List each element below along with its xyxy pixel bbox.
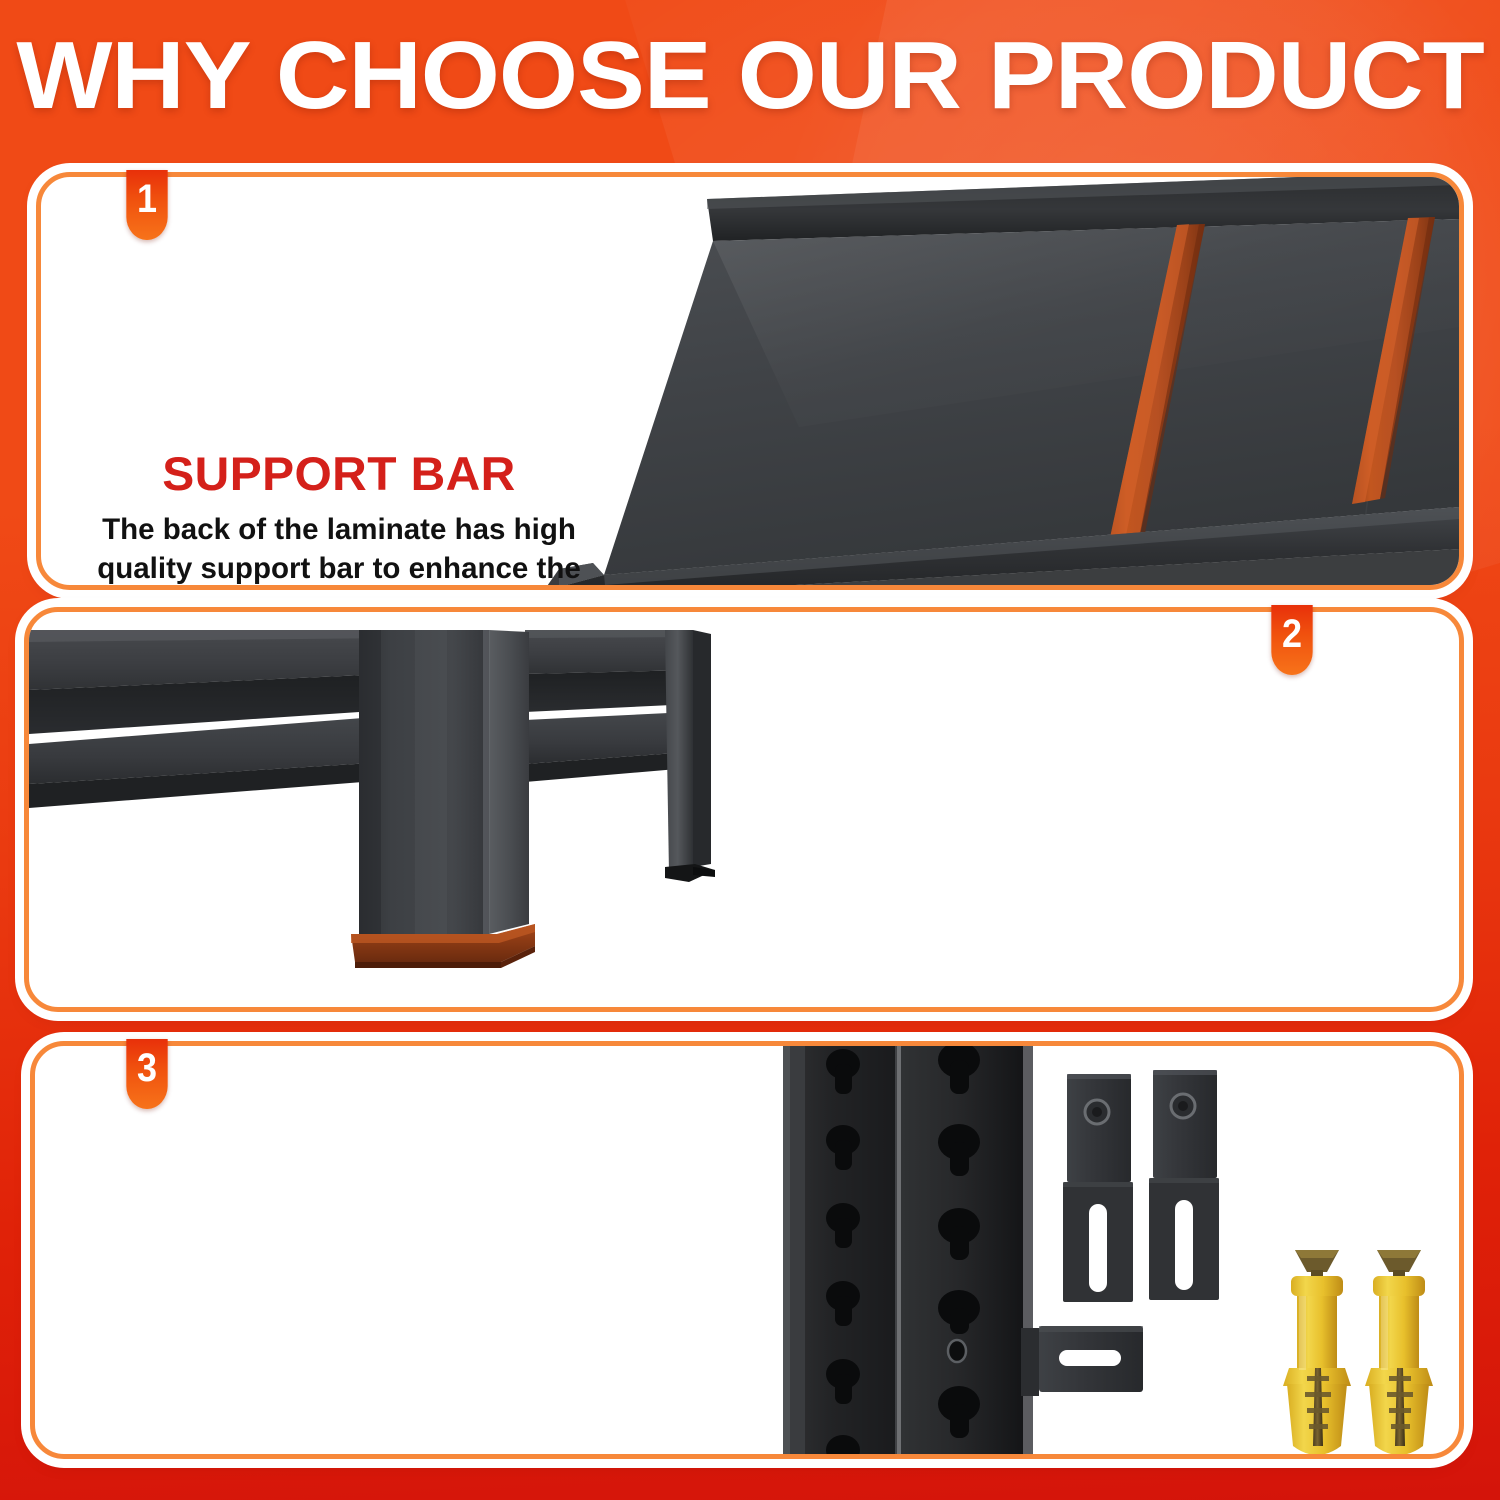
- shelf-leg-foot-pad-illustration: [29, 612, 849, 1007]
- feature-1-heading: SUPPORT BAR: [84, 449, 594, 498]
- feature-card-anti-tipping-clips: ANTI-TIPPING CLIPS Anti-tipping clips ke…: [30, 1041, 1464, 1459]
- feature-card-support-bar: SUPPORT BAR The back of the laminate has…: [36, 172, 1464, 590]
- feature-2-number-badge: 2: [1271, 605, 1312, 675]
- feature-1-text: SUPPORT BAR The back of the laminate has…: [89, 449, 589, 590]
- page-title: WHY CHOOSE OUR PRODUCT: [0, 28, 1500, 124]
- feature-1-number-badge: 1: [126, 170, 167, 240]
- shelf-laminate-illustration: [499, 177, 1459, 585]
- feature-card-foot-pads: FOOT PADS The Foot pads not only pro-tec…: [24, 607, 1464, 1012]
- feature-3-number-badge: 3: [126, 1039, 167, 1109]
- anti-tipping-clips-illustration: [759, 1046, 1459, 1454]
- feature-1-body: The back of the laminate has high qualit…: [89, 511, 589, 590]
